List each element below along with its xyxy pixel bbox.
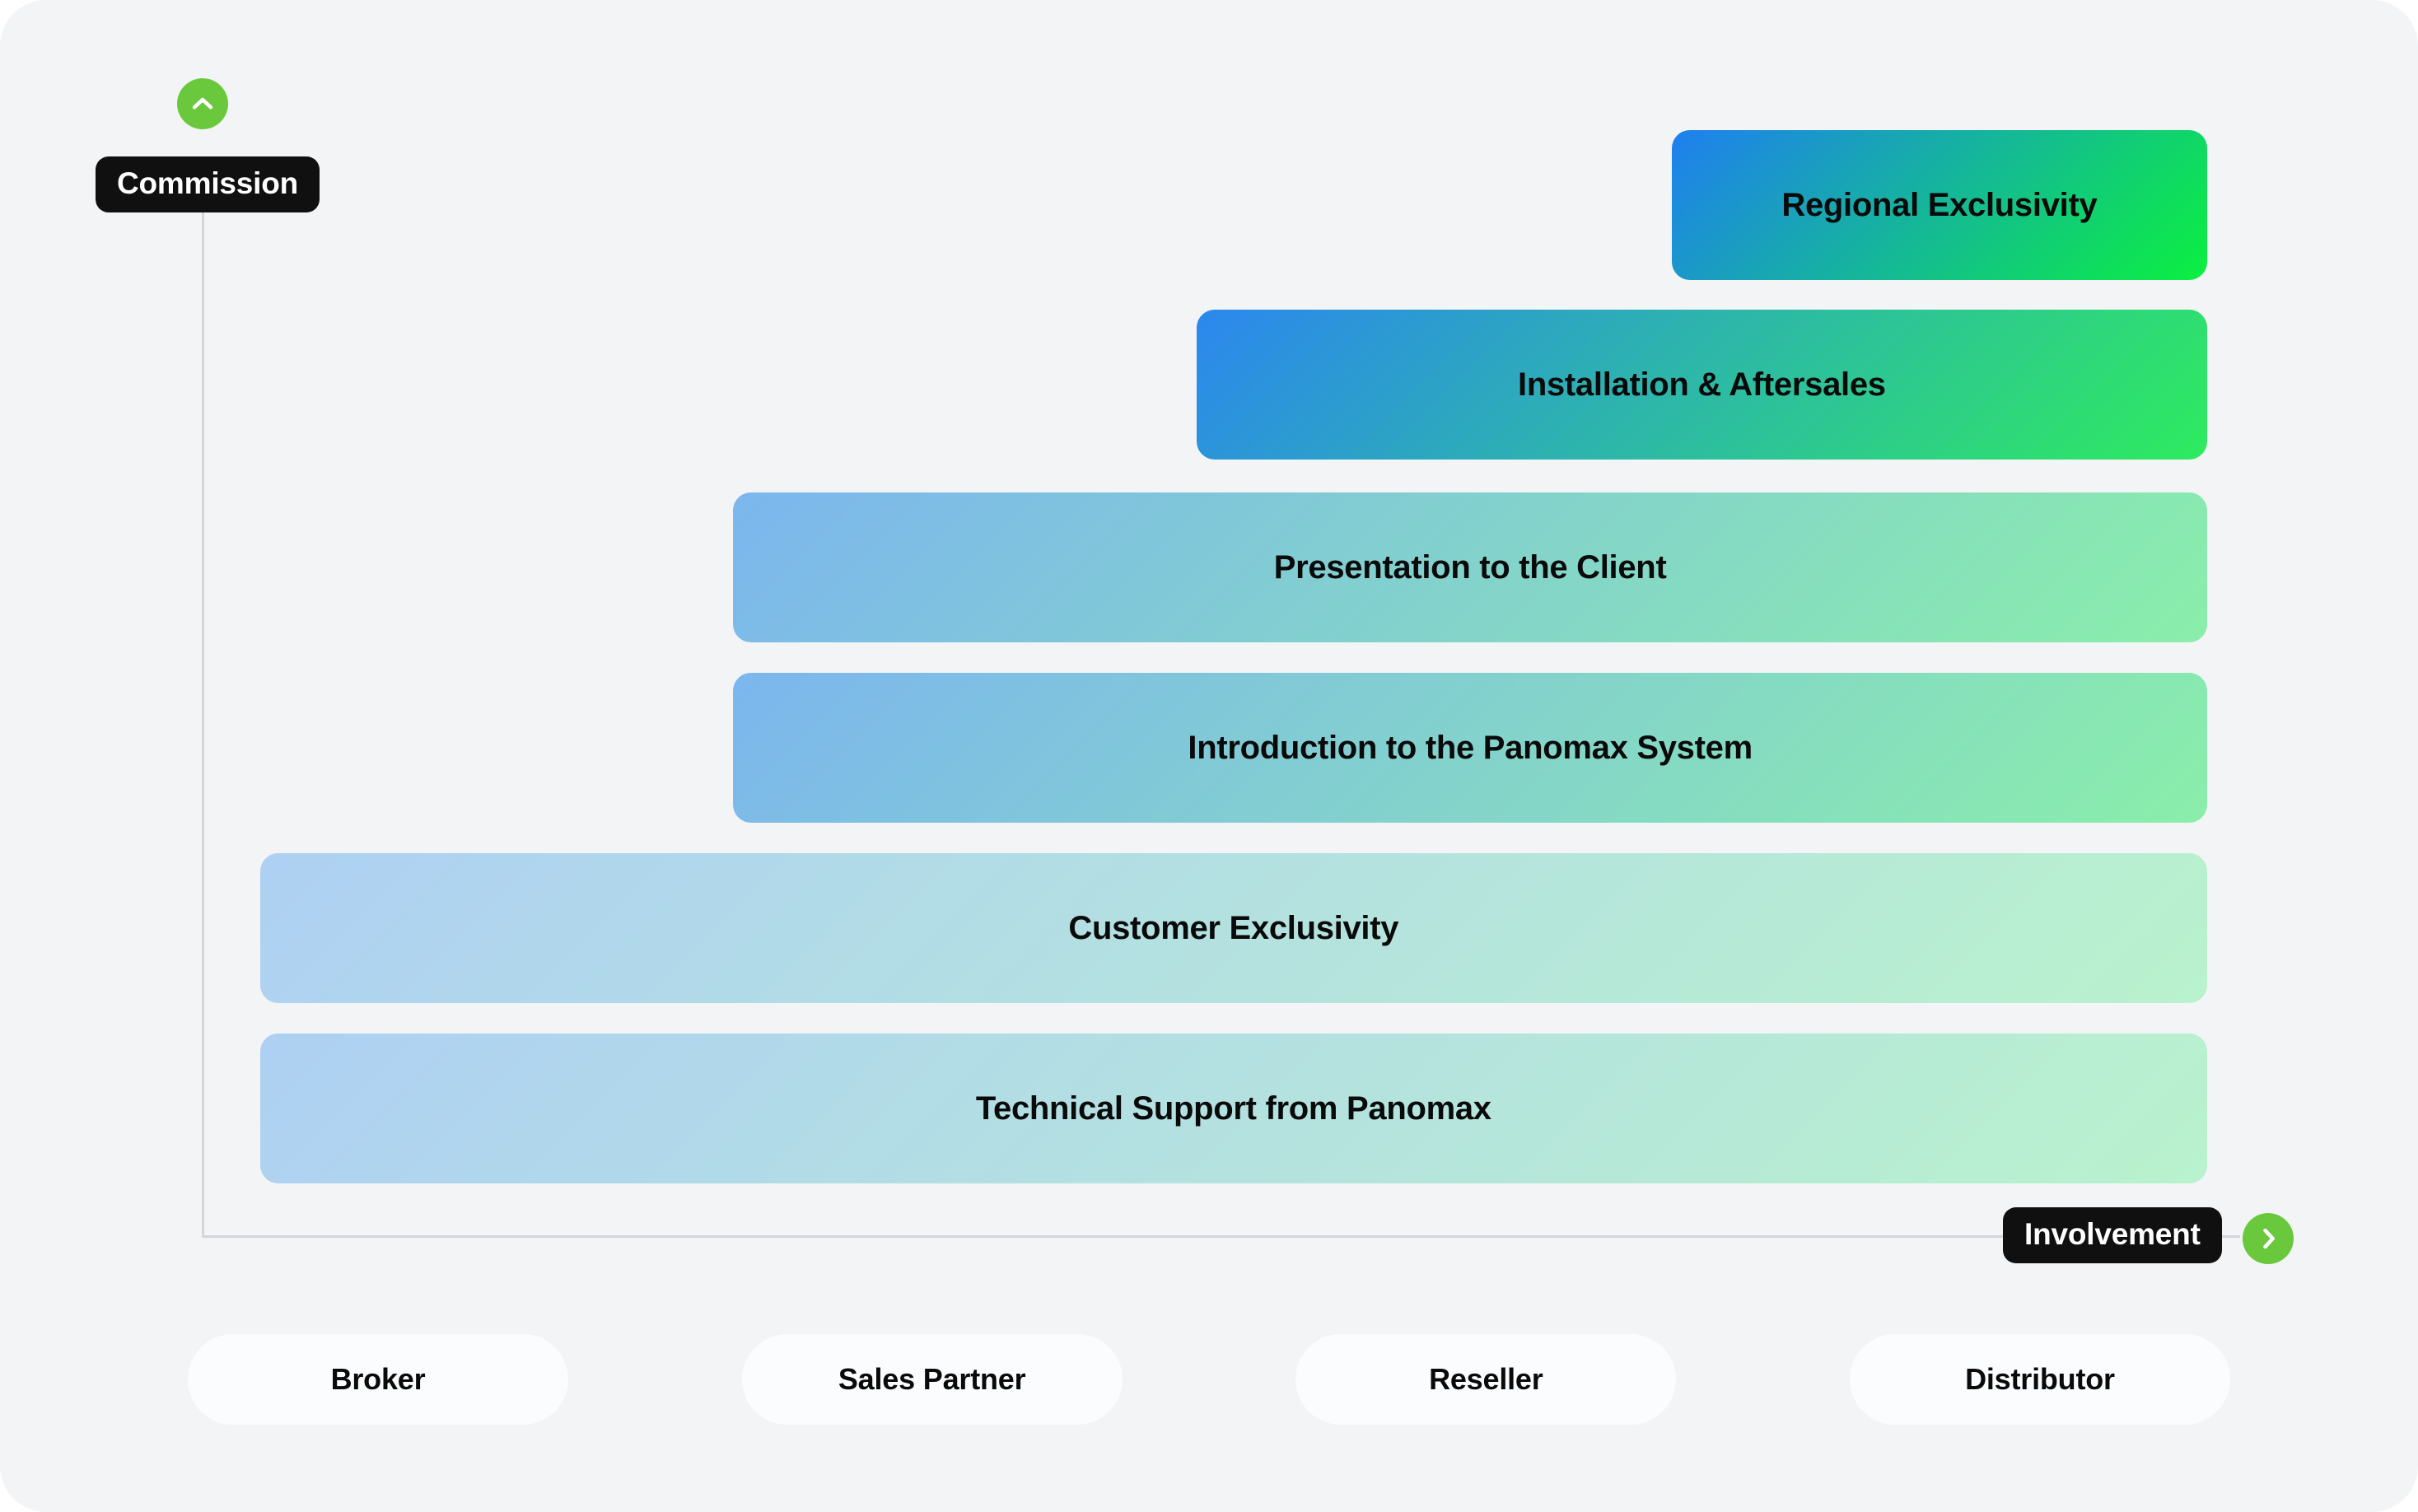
- segment-pill-reseller[interactable]: Reseller: [1295, 1334, 1676, 1425]
- bar-label: Introduction to the Panomax System: [1188, 730, 1752, 767]
- segment-label: Broker: [331, 1362, 426, 1397]
- segment-pill-row: Broker Sales Partner Reseller Distributo…: [188, 1334, 2230, 1425]
- bar-label: Regional Exclusivity: [1781, 187, 2097, 224]
- bar-4[interactable]: Introduction to the Panomax System: [733, 673, 2207, 823]
- x-axis-label: Involvement: [2003, 1207, 2222, 1263]
- bar-label: Technical Support from Panomax: [976, 1090, 1491, 1127]
- y-axis-line: [202, 177, 204, 1238]
- bar-label: Installation & Aftersales: [1518, 366, 1886, 404]
- segment-pill-distributor[interactable]: Distributor: [1850, 1334, 2230, 1425]
- x-axis-line: [202, 1235, 2005, 1238]
- chevron-right-icon[interactable]: [2243, 1213, 2294, 1264]
- y-axis-label: Commission: [96, 156, 320, 212]
- bar-3[interactable]: Presentation to the Client: [733, 492, 2207, 642]
- bar-label: Presentation to the Client: [1274, 549, 1667, 586]
- diagram-card: Commission Involvement Regional Exclusiv…: [0, 0, 2418, 1512]
- chevron-up-icon[interactable]: [177, 78, 228, 129]
- bar-label: Customer Exclusivity: [1068, 910, 1398, 947]
- bar-2[interactable]: Installation & Aftersales: [1197, 310, 2207, 460]
- segment-pill-sales-partner[interactable]: Sales Partner: [742, 1334, 1123, 1425]
- bar-1[interactable]: Regional Exclusivity: [1672, 130, 2207, 280]
- segment-label: Sales Partner: [838, 1362, 1026, 1397]
- segment-pill-broker[interactable]: Broker: [188, 1334, 568, 1425]
- bar-6[interactable]: Technical Support from Panomax: [260, 1034, 2207, 1183]
- segment-label: Distributor: [1965, 1362, 2115, 1397]
- bar-5[interactable]: Customer Exclusivity: [260, 853, 2207, 1003]
- segment-label: Reseller: [1429, 1362, 1543, 1397]
